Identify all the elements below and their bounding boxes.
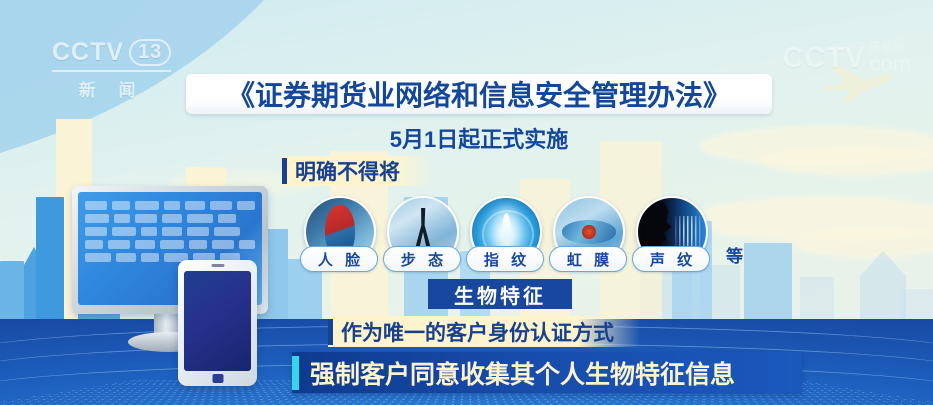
- clause-forced-consent-text: 强制客户同意收集其个人生物特征信息: [310, 355, 735, 391]
- tablet-device: [178, 260, 257, 386]
- etc-suffix-text: 等: [726, 242, 743, 267]
- biometrics-banner-text: 生物特征: [454, 280, 546, 309]
- biometric-label-face: 人 脸: [314, 249, 364, 270]
- biometric-label-pill-voiceprint: 声 纹: [632, 246, 710, 272]
- cctv-sub-label: 新 闻: [52, 70, 171, 101]
- biometric-label-pill-face: 人 脸: [300, 246, 378, 272]
- tablet-screen: [184, 271, 251, 371]
- headline-subtitle: 5月1日起正式实施: [186, 122, 772, 154]
- cctv-com-watermark: CCTV 央视网 com: [782, 42, 911, 75]
- biometric-item-face: 人 脸: [300, 196, 376, 272]
- headline-title: 《证券期货业网络和信息安全管理办法》: [227, 74, 731, 114]
- cctv-channel-logo: CCTV 13 新 闻: [52, 38, 171, 101]
- accent-bar-navy: [282, 158, 287, 184]
- biometric-item-fingerprint: 指 纹: [466, 196, 542, 272]
- clause-forced-consent-banner: 强制客户同意收集其个人生物特征信息: [292, 352, 802, 393]
- biometric-label-pill-iris: 虹 膜: [549, 246, 627, 272]
- clause-sole-auth-text: 作为唯一的客户身份认证方式: [341, 317, 614, 347]
- tablet-home-button: [212, 374, 223, 383]
- prohibition-intro-text: 明确不得将: [295, 156, 400, 186]
- biometric-label-gait: 步 态: [397, 249, 447, 270]
- cctv-brand-text: CCTV: [52, 38, 124, 67]
- biometrics-row: 人 脸 步 态 指 纹: [300, 196, 720, 272]
- watermark-brand: CCTV: [782, 42, 865, 75]
- biometric-item-voiceprint: 声 纹: [632, 196, 708, 272]
- biometric-label-fingerprint: 指 纹: [480, 249, 530, 270]
- accent-bar-cyan: [292, 356, 299, 390]
- sound-wave-bars: [675, 216, 702, 249]
- walking-figure-silhouette: [415, 208, 431, 250]
- device-illustration: [62, 186, 284, 386]
- biometric-item-gait: 步 态: [383, 196, 459, 272]
- watermark-domain-text: com: [869, 53, 911, 75]
- cctv-logo-row: CCTV 13: [52, 38, 171, 67]
- accent-bar-navy: [328, 319, 333, 345]
- cctv-channel-number: 13: [129, 39, 171, 66]
- tablet-camera: [211, 264, 224, 267]
- biometric-label-pill-gait: 步 态: [383, 246, 461, 272]
- biometric-label-voiceprint: 声 纹: [646, 249, 696, 270]
- biometric-label-pill-fingerprint: 指 纹: [466, 246, 544, 272]
- prohibition-intro-line: 明确不得将: [282, 156, 434, 186]
- watermark-right: 央视网 com: [869, 42, 911, 75]
- biometrics-banner: 生物特征: [428, 279, 572, 309]
- broadcast-graphic-stage: CCTV 13 新 闻 CCTV 央视网 com 《证券期货业网络和信息安全管理…: [0, 0, 933, 405]
- fingerprint-core-glow: [502, 213, 511, 250]
- headline-title-plate: 《证券期货业网络和信息安全管理办法》: [186, 74, 772, 114]
- biometric-label-iris: 虹 膜: [563, 249, 613, 270]
- biometric-item-iris: 虹 膜: [549, 196, 625, 272]
- clause-sole-auth-line: 作为唯一的客户身份认证方式: [328, 316, 640, 347]
- monitor-screen-grid: [85, 201, 255, 262]
